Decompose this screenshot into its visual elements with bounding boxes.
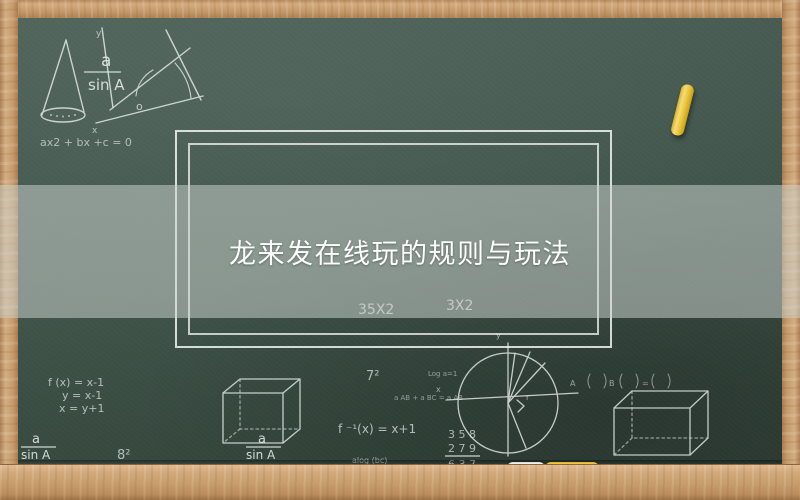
title-banner: 龙来发在线玩的规则与玩法	[0, 185, 800, 318]
chalk-matrix-b: B	[609, 379, 615, 388]
chalk-fraction-a-2: a	[258, 432, 266, 447]
chalk-label-x: x	[436, 385, 441, 394]
chalk-log-a: Log a=1	[428, 370, 457, 378]
bracket-notation	[588, 374, 670, 388]
chalk-axis-x: x	[92, 126, 98, 136]
chalk-function-3: x = y+1	[59, 402, 104, 415]
frame-top-rail	[0, 0, 800, 18]
chalk-formula-a: a	[101, 51, 111, 71]
chalk-function-2: y = x-1	[62, 389, 102, 402]
chalk-digits-row-1: 3 5 8	[448, 428, 476, 441]
chalk-function-1: f (x) = x-1	[48, 376, 104, 389]
page-title: 龙来发在线玩的规则与玩法	[229, 232, 571, 271]
chalk-vector-identity: a AB + a BC = a AB	[394, 394, 463, 402]
cube-drawing-2	[614, 391, 708, 455]
chalk-inverse-function: f ⁻¹(x) = x+1	[338, 422, 416, 436]
chalk-angle-theta: o	[136, 100, 143, 113]
chalk-digits-row-2: 2 7 9	[448, 442, 476, 455]
chalk-matrix-a: A	[570, 379, 576, 388]
frame-bottom-ledge	[0, 464, 800, 500]
chalk-seven-squared: 7²	[366, 369, 379, 384]
cone-dots	[50, 114, 76, 118]
chalk-axis-y: y	[96, 29, 102, 39]
chalk-matrix-c: =	[642, 379, 649, 388]
cone-drawing	[41, 40, 85, 122]
chalk-label-r: r	[526, 393, 530, 402]
chalk-quadratic-equation: ax2 + bx +c = 0	[40, 136, 132, 149]
chalkboard-title-card: a sin A ax2 + bx +c = 0 y x o f (x) = x-…	[0, 0, 800, 500]
chalk-formula-sina: sin A	[88, 76, 125, 94]
chalk-fraction-a-1: a	[32, 432, 40, 447]
